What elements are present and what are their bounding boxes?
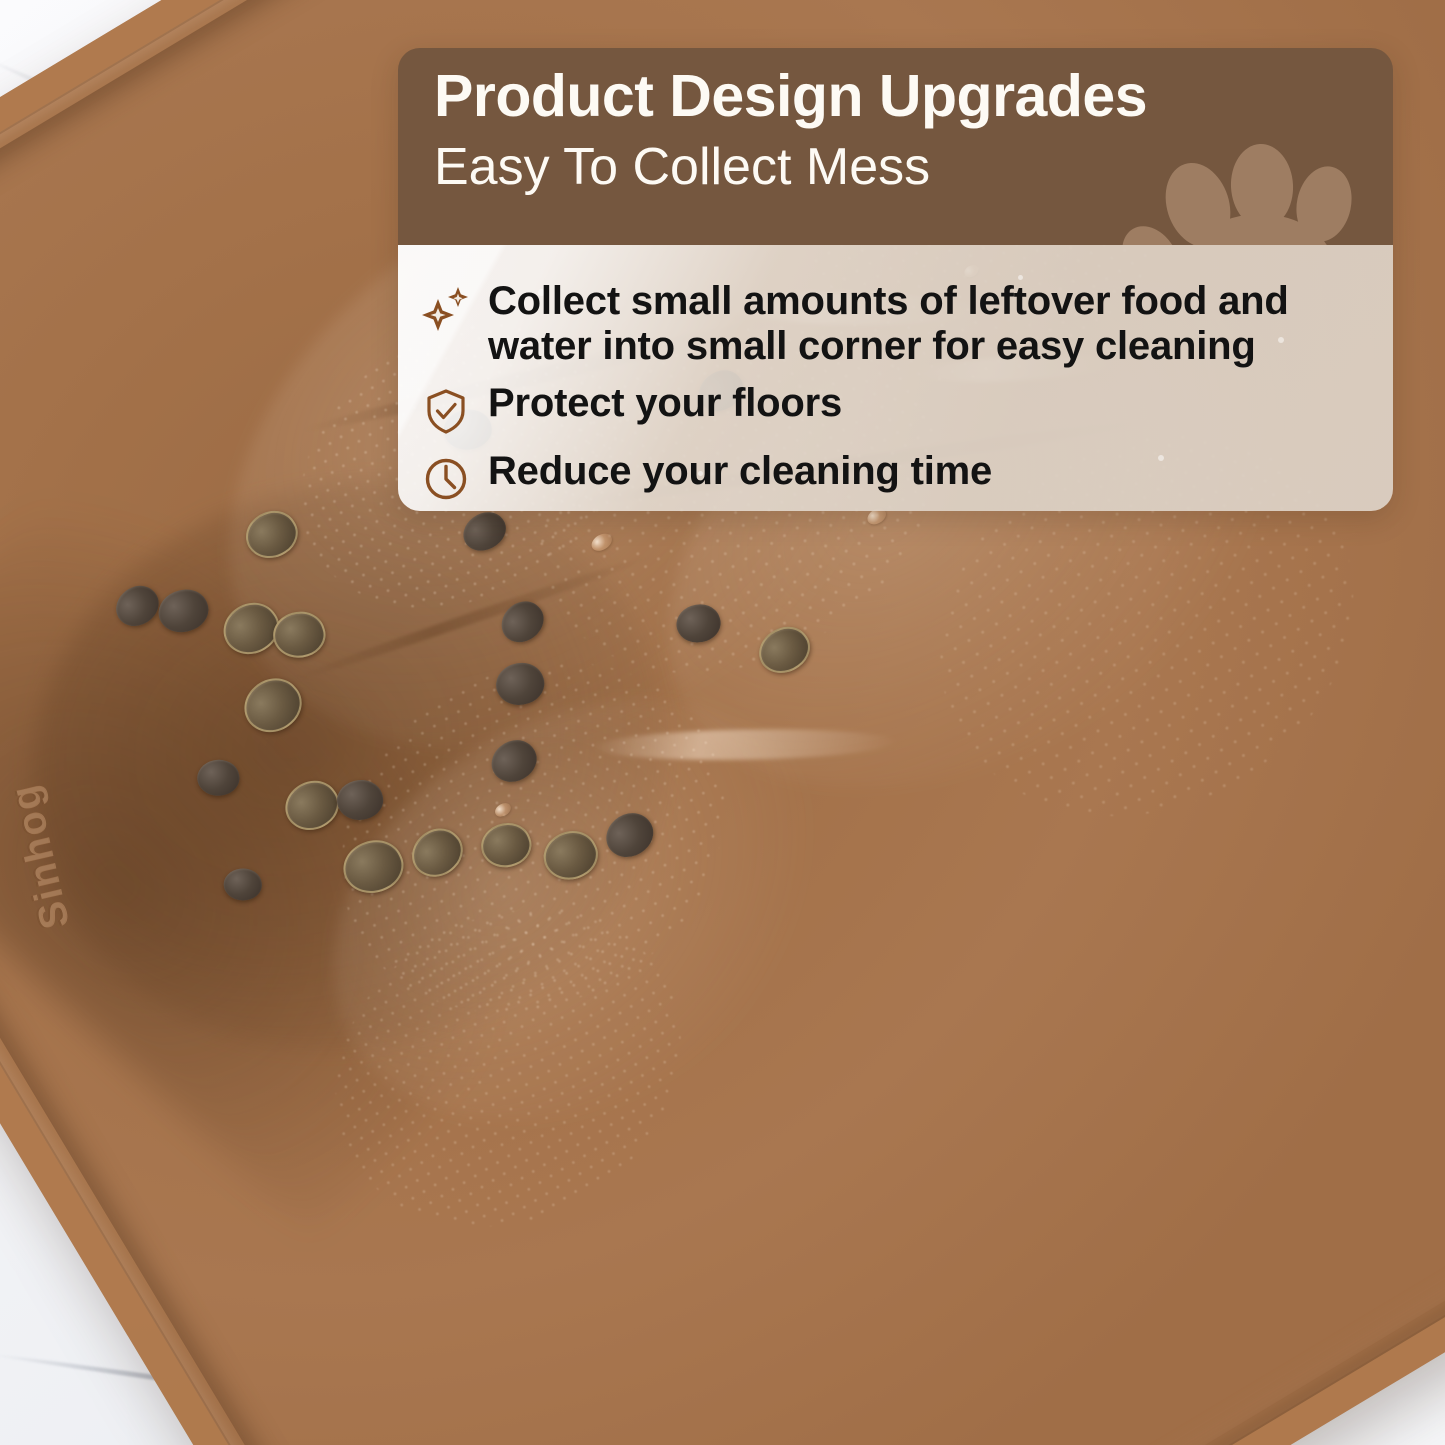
card-title: Product Design Upgrades (434, 66, 1357, 126)
card-header: Product Design Upgrades Easy To Collect … (398, 48, 1393, 245)
feature-bullet-list: Collect small amounts of leftover food a… (420, 279, 1369, 505)
list-item-label: Collect small amounts of leftover food a… (488, 279, 1369, 369)
list-item: Collect small amounts of leftover food a… (420, 279, 1369, 369)
feature-callout-card: Product Design Upgrades Easy To Collect … (398, 48, 1393, 511)
list-item-label: Reduce your cleaning time (488, 449, 992, 494)
clock-icon (420, 453, 472, 505)
list-item-label: Protect your floors (488, 381, 842, 426)
sparkle-icon (420, 283, 472, 335)
paw-print-icon (1165, 144, 1375, 245)
shield-check-icon (420, 385, 472, 437)
product-photo-scene: Sinhog Product Design Upgrades Easy To C… (0, 0, 1445, 1445)
card-body: Collect small amounts of leftover food a… (398, 245, 1393, 511)
list-item: Reduce your cleaning time (420, 449, 1369, 505)
list-item: Protect your floors (420, 381, 1369, 437)
